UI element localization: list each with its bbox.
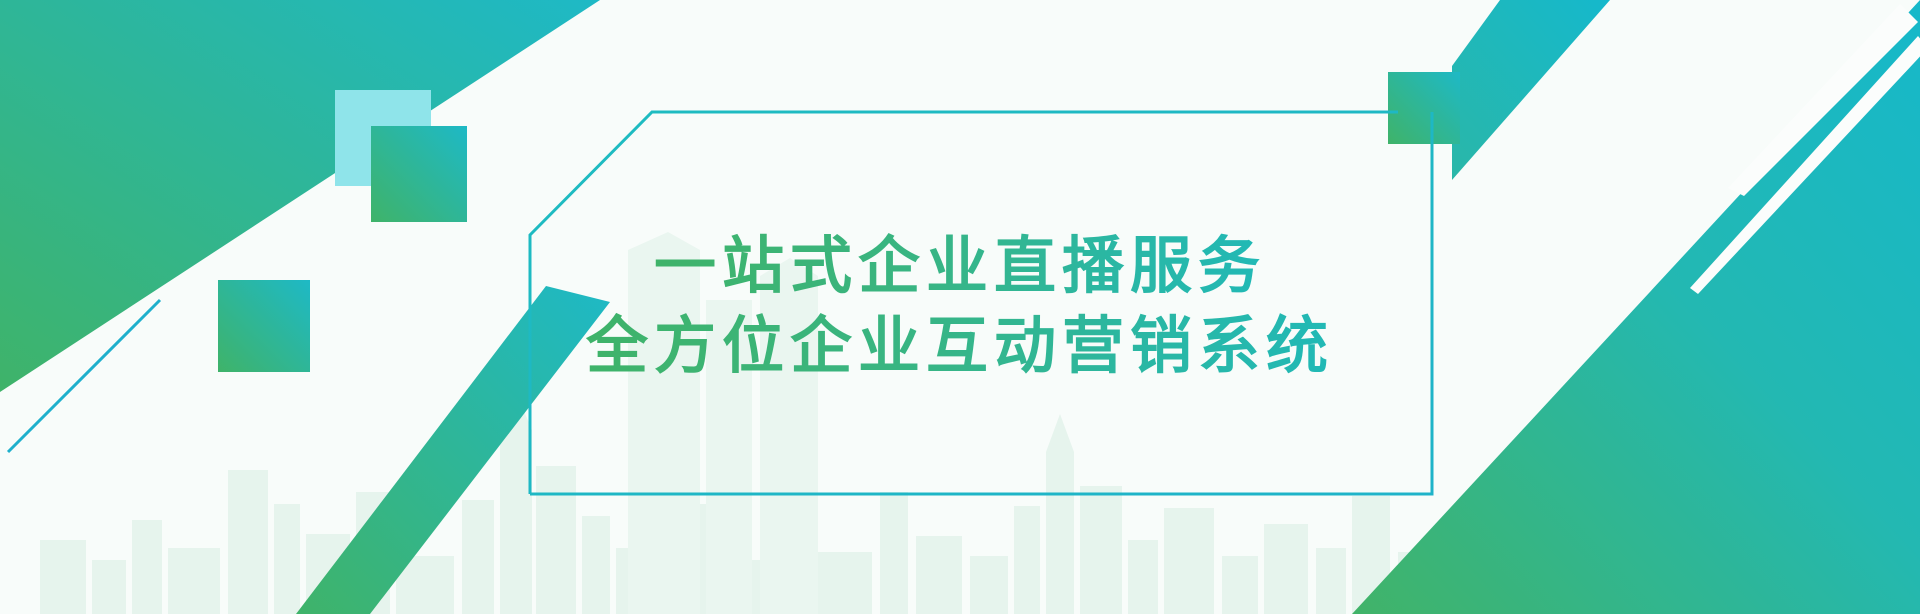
decor-square-frame-anchor [1388, 72, 1460, 144]
decor-square-gradient-left [218, 280, 310, 372]
decor-square-gradient-upper [371, 126, 467, 222]
banner-artwork [0, 0, 1920, 614]
hero-banner: 一站式企业直播服务 全方位企业互动营销系统 [0, 0, 1920, 614]
